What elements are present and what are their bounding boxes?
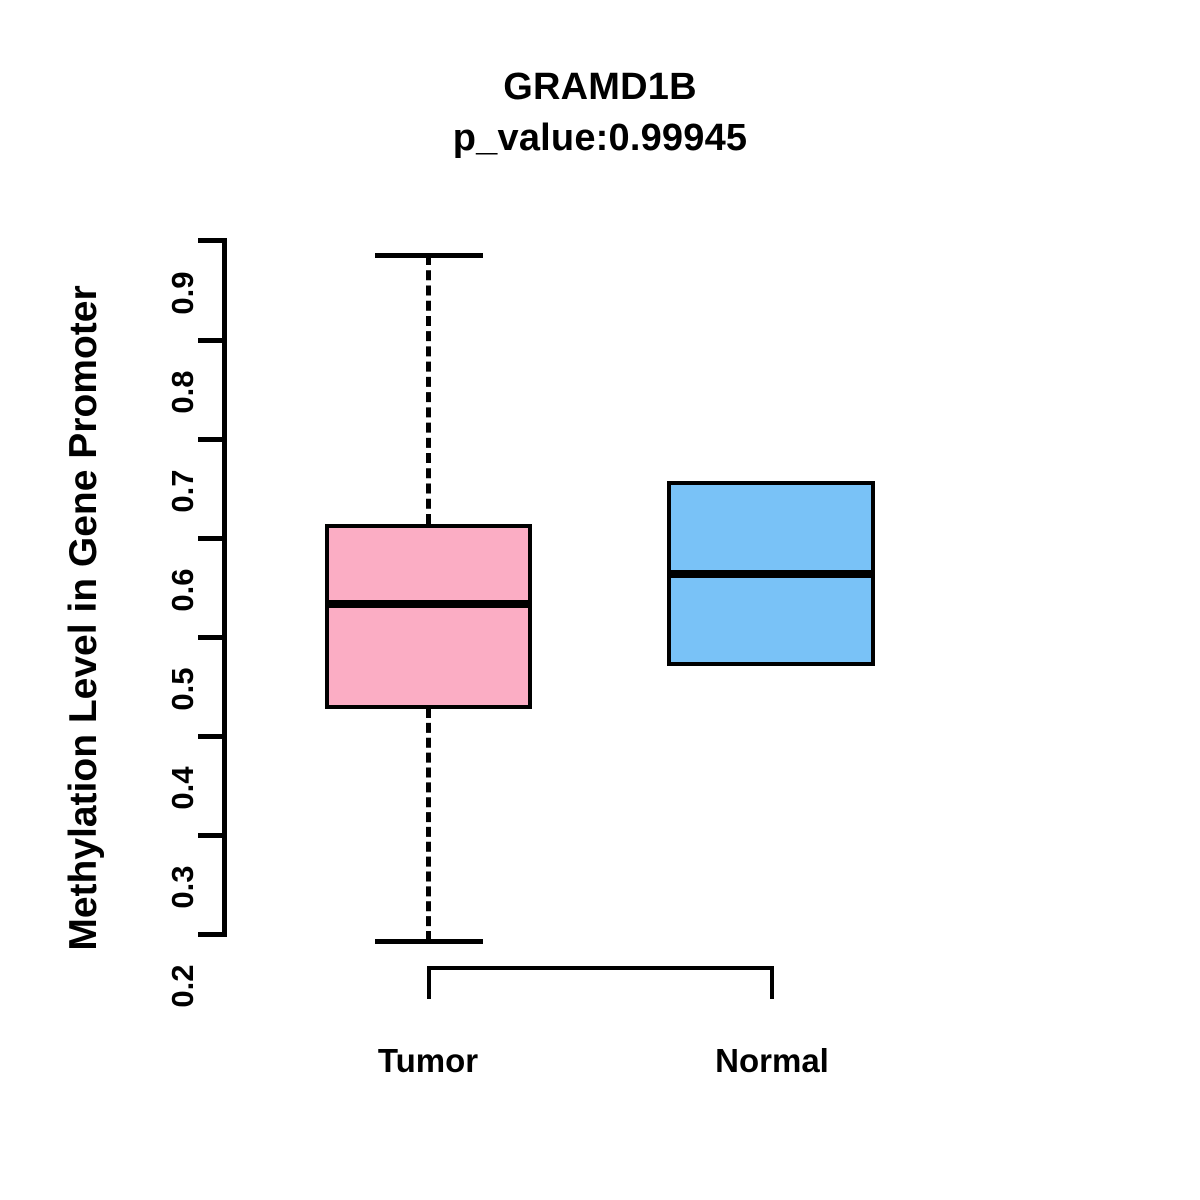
significance-bracket-top: [427, 966, 774, 970]
box-group-normal[interactable]: [0, 0, 1200, 1200]
normal-median-line: [667, 570, 875, 578]
significance-bracket-right-leg: [770, 966, 774, 999]
boxplot-figure: GRAMD1B p_value:0.99945 Methylation Leve…: [0, 0, 1200, 1200]
significance-bracket-left-leg: [427, 966, 431, 999]
